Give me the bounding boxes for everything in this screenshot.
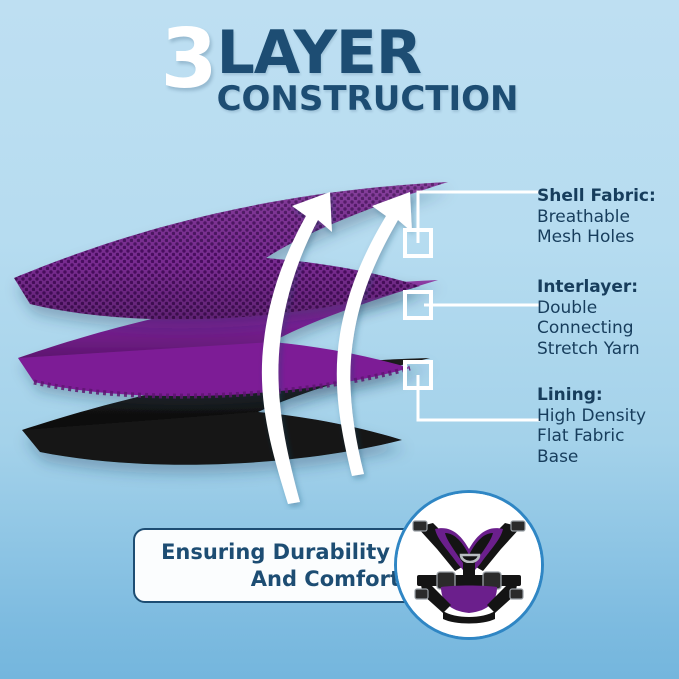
callout-line: Breathable [537, 207, 656, 228]
callout-line: Flat Fabric [537, 426, 646, 447]
callout-heading: Lining: [537, 385, 646, 406]
callout-line: Mesh Holes [537, 227, 656, 248]
callout-heading: Interlayer: [537, 277, 640, 298]
title-line-construction: CONSTRUCTION [217, 82, 519, 116]
callout-line: High Density [537, 406, 646, 427]
tagline-banner: Ensuring Durability And Comfort [133, 528, 418, 603]
product-photo-circle [394, 490, 544, 640]
callout-lining: Lining: High Density Flat Fabric Base [537, 385, 646, 468]
page-title: 3 LAYER CONSTRUCTION [0, 24, 679, 116]
callout-heading: Shell Fabric: [537, 186, 656, 207]
callout-line: Stretch Yarn [537, 339, 640, 360]
title-line-layer: LAYER [217, 26, 422, 81]
callout-markers [405, 230, 431, 388]
callout-connectors [418, 192, 540, 420]
callout-line: Base [537, 447, 646, 468]
title-word-stack: LAYER CONSTRUCTION [217, 26, 519, 116]
connector-line-shell [418, 192, 540, 243]
tagline-line-1: Ensuring Durability [151, 539, 400, 565]
layer-illustration [0, 130, 560, 510]
title-number: 3 [161, 24, 215, 96]
dog-harness-illustration [397, 493, 541, 637]
callout-interlayer: Interlayer: Double Connecting Stretch Ya… [537, 277, 640, 360]
callout-line: Connecting [537, 318, 640, 339]
callout-shell-fabric: Shell Fabric: Breathable Mesh Holes [537, 186, 656, 248]
connector-line-lining [418, 375, 540, 420]
callout-line: Double [537, 298, 640, 319]
infographic-canvas: 3 LAYER CONSTRUCTION [0, 0, 679, 679]
title-row: 3 LAYER CONSTRUCTION [0, 24, 679, 116]
tagline-line-2: And Comfort [151, 566, 400, 592]
